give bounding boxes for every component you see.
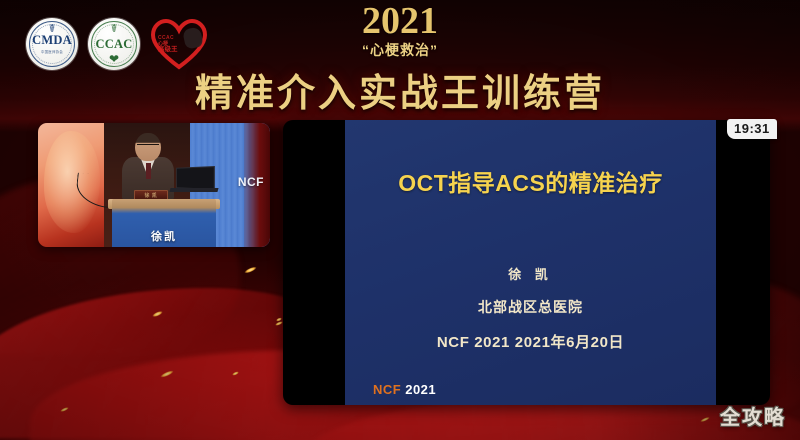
podium-speaker-name: 徐凯 bbox=[112, 228, 216, 244]
slide-presenter-name: 徐 凯 bbox=[508, 264, 553, 283]
podium-nameplate-text: 徐 凯 bbox=[135, 191, 167, 199]
slide-footer-brand: NCF bbox=[373, 382, 401, 397]
heart-logo-line3: 高级王 bbox=[158, 47, 200, 54]
slide-affiliation: 北部战区总医院 bbox=[478, 297, 583, 317]
ccac-logo: ☤ CCAC ❤ bbox=[88, 18, 140, 70]
speaker-video-thumbnail[interactable]: NCF 徐 凯 徐凯 bbox=[38, 123, 270, 247]
organizer-logos: ☤ CMDA 中国医师协会 ☤ CCAC ❤ CCAC 心梗 高级王 bbox=[26, 18, 208, 70]
laptop-base bbox=[169, 188, 218, 192]
video-player-frame: ☤ CMDA 中国医师协会 ☤ CCAC ❤ CCAC 心梗 高级王 bbox=[0, 0, 800, 440]
watermark: 全攻略 bbox=[720, 401, 786, 430]
stage-backdrop-brand: NCF bbox=[238, 175, 264, 189]
speaker-tie bbox=[146, 163, 151, 179]
slide-title: OCT指导ACS的精准治疗 bbox=[398, 164, 663, 198]
presentation-slide-viewport[interactable]: OCT指导ACS的精准治疗 徐 凯 北部战区总医院 NCF 2021 2021年… bbox=[283, 120, 770, 405]
heart-leaf-icon: ❤ bbox=[109, 53, 119, 65]
presentation-slide: OCT指导ACS的精准治疗 徐 凯 北部战区总医院 NCF 2021 2021年… bbox=[345, 120, 716, 405]
timestamp-badge: 19:31 bbox=[727, 119, 777, 139]
heart-campaign-logo: CCAC 心梗 高级王 bbox=[150, 18, 208, 70]
slide-footer: NCF2021 bbox=[373, 382, 436, 397]
slide-conference-date: NCF 2021 2021年6月20日 bbox=[437, 331, 624, 352]
cmda-logo-sub: 中国医师协会 bbox=[41, 49, 63, 54]
glasses-icon bbox=[137, 144, 159, 149]
ccac-logo-text: CCAC bbox=[96, 38, 133, 51]
slide-footer-year: 2021 bbox=[405, 382, 436, 397]
medical-staff-icon: ☤ bbox=[110, 24, 117, 35]
laptop-icon bbox=[176, 166, 215, 190]
cmda-logo: ☤ CMDA 中国医师协会 bbox=[26, 18, 78, 70]
cmda-logo-text: CMDA bbox=[32, 34, 72, 47]
